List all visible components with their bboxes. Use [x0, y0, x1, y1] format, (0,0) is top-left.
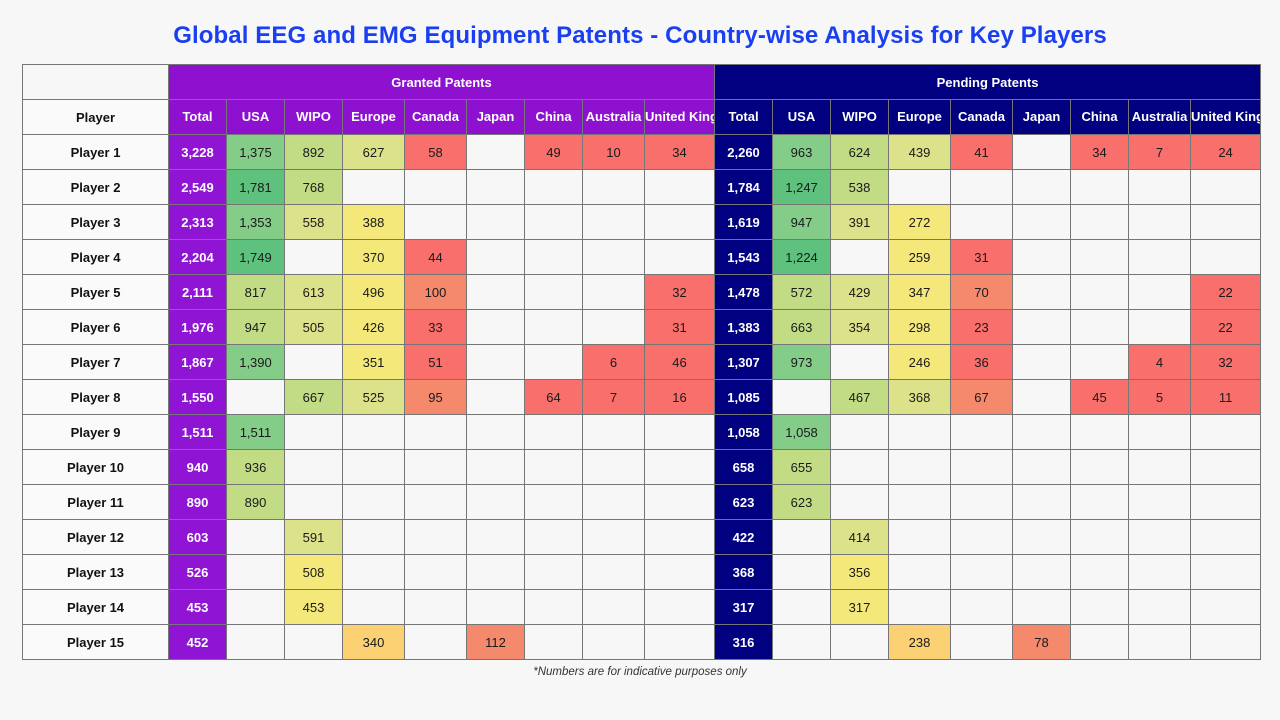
- cell-granted-australia: [583, 170, 645, 205]
- cell-granted-europe: 370: [343, 240, 405, 275]
- cell-granted-japan: [467, 380, 525, 415]
- cell-pending-australia: [1129, 485, 1191, 520]
- cell-granted-china: [525, 450, 583, 485]
- cell-granted-usa: 947: [227, 310, 285, 345]
- cell-granted-united-kingdom: 16: [645, 380, 715, 415]
- cell-granted-china: [525, 345, 583, 380]
- cell-pending-canada: [951, 485, 1013, 520]
- cell-granted-australia: [583, 625, 645, 660]
- cell-granted-canada: 44: [405, 240, 467, 275]
- footnote: *Numbers are for indicative purposes onl…: [0, 660, 1280, 678]
- cell-granted-united-kingdom: [645, 170, 715, 205]
- cell-pending-wipo: [831, 485, 889, 520]
- cell-granted-usa: 1,353: [227, 205, 285, 240]
- cell-granted-australia: [583, 240, 645, 275]
- cell-pending-wipo: 538: [831, 170, 889, 205]
- row-label-player: Player 13: [23, 555, 169, 590]
- cell-pending-canada: 41: [951, 135, 1013, 170]
- cell-granted-united-kingdom: [645, 450, 715, 485]
- cell-granted-total: 1,867: [169, 345, 227, 380]
- cell-granted-china: [525, 590, 583, 625]
- cell-granted-wipo: [285, 345, 343, 380]
- cell-pending-canada: 70: [951, 275, 1013, 310]
- cell-pending-china: [1071, 450, 1129, 485]
- column-header-pending-japan: Japan: [1013, 100, 1071, 135]
- cell-granted-united-kingdom: [645, 415, 715, 450]
- cell-pending-europe: [889, 415, 951, 450]
- table-row: Player 11890890623623: [23, 485, 1261, 520]
- cell-pending-united-kingdom: 24: [1191, 135, 1261, 170]
- column-header-granted-japan: Japan: [467, 100, 525, 135]
- cell-granted-australia: [583, 205, 645, 240]
- cell-pending-usa: 663: [773, 310, 831, 345]
- cell-granted-europe: 340: [343, 625, 405, 660]
- cell-pending-japan: [1013, 520, 1071, 555]
- cell-pending-canada: [951, 625, 1013, 660]
- cell-granted-usa: 1,375: [227, 135, 285, 170]
- table-row: Player 42,2041,749370441,5431,22425931: [23, 240, 1261, 275]
- cell-granted-total: 526: [169, 555, 227, 590]
- cell-pending-canada: [951, 520, 1013, 555]
- cell-pending-canada: 36: [951, 345, 1013, 380]
- cell-pending-wipo: 391: [831, 205, 889, 240]
- column-header-granted-canada: Canada: [405, 100, 467, 135]
- cell-pending-wipo: 429: [831, 275, 889, 310]
- cell-pending-japan: [1013, 310, 1071, 345]
- cell-granted-europe: [343, 485, 405, 520]
- cell-granted-europe: 496: [343, 275, 405, 310]
- cell-pending-united-kingdom: [1191, 415, 1261, 450]
- row-label-player: Player 11: [23, 485, 169, 520]
- table-head: Granted Patents Pending Patents Player T…: [23, 65, 1261, 135]
- cell-pending-total: 1,058: [715, 415, 773, 450]
- row-header-label: Player: [23, 100, 169, 135]
- cell-pending-canada: 23: [951, 310, 1013, 345]
- cell-pending-wipo: 356: [831, 555, 889, 590]
- row-label-player: Player 7: [23, 345, 169, 380]
- cell-granted-europe: 388: [343, 205, 405, 240]
- cell-pending-total: 1,307: [715, 345, 773, 380]
- cell-pending-china: [1071, 415, 1129, 450]
- cell-pending-usa: 655: [773, 450, 831, 485]
- cell-granted-total: 2,204: [169, 240, 227, 275]
- cell-granted-united-kingdom: [645, 205, 715, 240]
- cell-granted-wipo: [285, 450, 343, 485]
- cell-pending-china: [1071, 310, 1129, 345]
- cell-granted-united-kingdom: 32: [645, 275, 715, 310]
- cell-pending-japan: [1013, 415, 1071, 450]
- cell-granted-canada: [405, 450, 467, 485]
- table-row: Player 22,5491,7817681,7841,247538: [23, 170, 1261, 205]
- cell-granted-japan: [467, 135, 525, 170]
- cell-granted-canada: 51: [405, 345, 467, 380]
- cell-pending-china: [1071, 275, 1129, 310]
- cell-pending-total: 2,260: [715, 135, 773, 170]
- cell-granted-united-kingdom: [645, 555, 715, 590]
- table-row: Player 13,2281,375892627584910342,260963…: [23, 135, 1261, 170]
- cell-granted-europe: 627: [343, 135, 405, 170]
- table-row: Player 10940936658655: [23, 450, 1261, 485]
- cell-granted-united-kingdom: [645, 520, 715, 555]
- cell-granted-canada: 95: [405, 380, 467, 415]
- cell-pending-china: [1071, 240, 1129, 275]
- cell-pending-united-kingdom: [1191, 625, 1261, 660]
- cell-pending-china: [1071, 520, 1129, 555]
- cell-granted-usa: 817: [227, 275, 285, 310]
- row-label-player: Player 14: [23, 590, 169, 625]
- cell-granted-canada: 33: [405, 310, 467, 345]
- column-header-row: Player TotalUSAWIPOEuropeCanadaJapanChin…: [23, 100, 1261, 135]
- cell-pending-total: 1,784: [715, 170, 773, 205]
- cell-granted-wipo: 613: [285, 275, 343, 310]
- cell-pending-total: 368: [715, 555, 773, 590]
- cell-granted-europe: [343, 520, 405, 555]
- cell-pending-china: [1071, 590, 1129, 625]
- table-row: Player 14453453317317: [23, 590, 1261, 625]
- cell-pending-usa: 947: [773, 205, 831, 240]
- cell-pending-usa: 1,247: [773, 170, 831, 205]
- cell-pending-canada: [951, 170, 1013, 205]
- cell-pending-wipo: 624: [831, 135, 889, 170]
- cell-granted-europe: [343, 415, 405, 450]
- cell-pending-japan: [1013, 555, 1071, 590]
- cell-granted-usa: [227, 520, 285, 555]
- cell-pending-wipo: 467: [831, 380, 889, 415]
- cell-granted-canada: [405, 555, 467, 590]
- cell-granted-total: 2,549: [169, 170, 227, 205]
- cell-pending-australia: [1129, 590, 1191, 625]
- cell-pending-japan: [1013, 240, 1071, 275]
- cell-pending-australia: [1129, 170, 1191, 205]
- column-header-pending-total: Total: [715, 100, 773, 135]
- cell-pending-japan: [1013, 485, 1071, 520]
- cell-granted-china: 64: [525, 380, 583, 415]
- cell-pending-canada: [951, 450, 1013, 485]
- cell-granted-total: 1,550: [169, 380, 227, 415]
- cell-pending-total: 1,478: [715, 275, 773, 310]
- cell-granted-china: [525, 625, 583, 660]
- cell-pending-canada: [951, 205, 1013, 240]
- cell-granted-wipo: [285, 240, 343, 275]
- group-header-spacer: [23, 65, 169, 100]
- cell-granted-canada: [405, 205, 467, 240]
- cell-pending-wipo: [831, 625, 889, 660]
- cell-pending-usa: 623: [773, 485, 831, 520]
- table-row: Player 91,5111,5111,0581,058: [23, 415, 1261, 450]
- row-label-player: Player 6: [23, 310, 169, 345]
- cell-pending-china: 34: [1071, 135, 1129, 170]
- patents-heatmap-table: Granted Patents Pending Patents Player T…: [22, 64, 1261, 660]
- cell-granted-usa: [227, 380, 285, 415]
- cell-pending-united-kingdom: [1191, 590, 1261, 625]
- row-label-player: Player 12: [23, 520, 169, 555]
- cell-pending-europe: [889, 520, 951, 555]
- cell-pending-china: [1071, 170, 1129, 205]
- column-header-pending-canada: Canada: [951, 100, 1013, 135]
- cell-granted-canada: [405, 170, 467, 205]
- cell-pending-australia: [1129, 310, 1191, 345]
- cell-pending-japan: [1013, 380, 1071, 415]
- cell-granted-japan: [467, 415, 525, 450]
- cell-pending-japan: 78: [1013, 625, 1071, 660]
- cell-pending-united-kingdom: [1191, 205, 1261, 240]
- cell-granted-wipo: [285, 625, 343, 660]
- page-root: Global EEG and EMG Equipment Patents - C…: [0, 0, 1280, 720]
- cell-granted-united-kingdom: [645, 590, 715, 625]
- cell-pending-canada: [951, 415, 1013, 450]
- cell-granted-china: [525, 555, 583, 590]
- column-header-granted-europe: Europe: [343, 100, 405, 135]
- cell-pending-japan: [1013, 275, 1071, 310]
- row-label-player: Player 5: [23, 275, 169, 310]
- cell-granted-japan: [467, 205, 525, 240]
- cell-pending-europe: [889, 485, 951, 520]
- cell-granted-wipo: 892: [285, 135, 343, 170]
- cell-granted-united-kingdom: [645, 485, 715, 520]
- cell-pending-total: 1,085: [715, 380, 773, 415]
- cell-granted-china: [525, 415, 583, 450]
- cell-granted-china: [525, 240, 583, 275]
- column-header-pending-china: China: [1071, 100, 1129, 135]
- row-label-player: Player 3: [23, 205, 169, 240]
- cell-granted-usa: 1,749: [227, 240, 285, 275]
- cell-pending-europe: 259: [889, 240, 951, 275]
- page-title: Global EEG and EMG Equipment Patents - C…: [0, 0, 1280, 64]
- cell-pending-usa: 1,224: [773, 240, 831, 275]
- table-row: Player 13526508368356: [23, 555, 1261, 590]
- cell-pending-australia: [1129, 625, 1191, 660]
- cell-pending-united-kingdom: [1191, 555, 1261, 590]
- cell-pending-total: 1,543: [715, 240, 773, 275]
- cell-pending-wipo: [831, 450, 889, 485]
- cell-pending-europe: 238: [889, 625, 951, 660]
- cell-pending-total: 317: [715, 590, 773, 625]
- cell-granted-total: 3,228: [169, 135, 227, 170]
- cell-pending-canada: 31: [951, 240, 1013, 275]
- cell-granted-europe: [343, 555, 405, 590]
- cell-granted-australia: 6: [583, 345, 645, 380]
- cell-granted-japan: [467, 170, 525, 205]
- cell-granted-total: 453: [169, 590, 227, 625]
- cell-granted-wipo: [285, 485, 343, 520]
- cell-pending-total: 658: [715, 450, 773, 485]
- cell-granted-usa: [227, 590, 285, 625]
- cell-granted-canada: [405, 625, 467, 660]
- column-header-granted-china: China: [525, 100, 583, 135]
- cell-granted-usa: 1,781: [227, 170, 285, 205]
- cell-granted-japan: [467, 275, 525, 310]
- cell-granted-europe: 351: [343, 345, 405, 380]
- cell-granted-china: [525, 275, 583, 310]
- cell-pending-usa: 1,058: [773, 415, 831, 450]
- cell-granted-japan: [467, 240, 525, 275]
- cell-pending-wipo: 414: [831, 520, 889, 555]
- cell-pending-europe: 298: [889, 310, 951, 345]
- table-body: Player 13,2281,375892627584910342,260963…: [23, 135, 1261, 660]
- cell-pending-usa: [773, 520, 831, 555]
- column-header-pending-europe: Europe: [889, 100, 951, 135]
- cell-granted-china: [525, 520, 583, 555]
- cell-pending-japan: [1013, 590, 1071, 625]
- cell-granted-total: 940: [169, 450, 227, 485]
- cell-pending-china: 45: [1071, 380, 1129, 415]
- cell-granted-total: 1,511: [169, 415, 227, 450]
- cell-pending-australia: [1129, 275, 1191, 310]
- cell-pending-europe: [889, 590, 951, 625]
- column-header-pending-usa: USA: [773, 100, 831, 135]
- cell-granted-wipo: 768: [285, 170, 343, 205]
- cell-pending-europe: [889, 170, 951, 205]
- cell-granted-japan: [467, 555, 525, 590]
- table-row: Player 32,3131,3535583881,619947391272: [23, 205, 1261, 240]
- column-header-granted-australia: Australia: [583, 100, 645, 135]
- cell-granted-united-kingdom: [645, 625, 715, 660]
- cell-granted-wipo: [285, 415, 343, 450]
- cell-pending-canada: [951, 590, 1013, 625]
- cell-granted-wipo: 591: [285, 520, 343, 555]
- cell-granted-australia: [583, 555, 645, 590]
- cell-granted-japan: [467, 520, 525, 555]
- cell-pending-europe: 246: [889, 345, 951, 380]
- cell-pending-china: [1071, 345, 1129, 380]
- cell-granted-wipo: 505: [285, 310, 343, 345]
- table-row: Player 61,97694750542633311,383663354298…: [23, 310, 1261, 345]
- cell-pending-japan: [1013, 135, 1071, 170]
- cell-granted-japan: 112: [467, 625, 525, 660]
- cell-pending-australia: [1129, 415, 1191, 450]
- cell-granted-usa: 890: [227, 485, 285, 520]
- cell-granted-europe: [343, 450, 405, 485]
- cell-pending-australia: [1129, 450, 1191, 485]
- cell-pending-canada: 67: [951, 380, 1013, 415]
- row-label-player: Player 15: [23, 625, 169, 660]
- cell-granted-china: 49: [525, 135, 583, 170]
- cell-granted-australia: 10: [583, 135, 645, 170]
- cell-pending-total: 623: [715, 485, 773, 520]
- cell-pending-united-kingdom: [1191, 520, 1261, 555]
- cell-pending-wipo: [831, 240, 889, 275]
- cell-pending-usa: [773, 625, 831, 660]
- cell-pending-china: [1071, 205, 1129, 240]
- cell-pending-japan: [1013, 345, 1071, 380]
- cell-granted-canada: [405, 590, 467, 625]
- cell-pending-united-kingdom: [1191, 485, 1261, 520]
- cell-pending-wipo: [831, 345, 889, 380]
- cell-granted-australia: [583, 520, 645, 555]
- cell-pending-australia: 5: [1129, 380, 1191, 415]
- cell-pending-total: 316: [715, 625, 773, 660]
- table-row: Player 12603591422414: [23, 520, 1261, 555]
- cell-pending-usa: [773, 590, 831, 625]
- cell-pending-total: 1,383: [715, 310, 773, 345]
- cell-pending-united-kingdom: 32: [1191, 345, 1261, 380]
- row-label-player: Player 2: [23, 170, 169, 205]
- cell-pending-japan: [1013, 205, 1071, 240]
- table-row: Player 1545234011231623878: [23, 625, 1261, 660]
- cell-pending-china: [1071, 485, 1129, 520]
- cell-pending-china: [1071, 555, 1129, 590]
- cell-granted-australia: [583, 485, 645, 520]
- cell-granted-usa: [227, 625, 285, 660]
- cell-granted-china: [525, 310, 583, 345]
- cell-granted-japan: [467, 590, 525, 625]
- cell-granted-total: 603: [169, 520, 227, 555]
- cell-granted-wipo: 558: [285, 205, 343, 240]
- cell-granted-canada: [405, 485, 467, 520]
- cell-pending-united-kingdom: [1191, 170, 1261, 205]
- cell-granted-europe: [343, 590, 405, 625]
- cell-pending-total: 422: [715, 520, 773, 555]
- column-header-granted-united-kingdom: United Kingdom: [645, 100, 715, 135]
- cell-pending-europe: [889, 555, 951, 590]
- cell-granted-europe: [343, 170, 405, 205]
- cell-pending-usa: 572: [773, 275, 831, 310]
- cell-pending-australia: 4: [1129, 345, 1191, 380]
- cell-granted-canada: 100: [405, 275, 467, 310]
- cell-pending-australia: [1129, 555, 1191, 590]
- group-header-row: Granted Patents Pending Patents: [23, 65, 1261, 100]
- cell-pending-wipo: 354: [831, 310, 889, 345]
- cell-pending-australia: [1129, 520, 1191, 555]
- cell-granted-australia: [583, 415, 645, 450]
- cell-granted-china: [525, 205, 583, 240]
- table-row: Player 52,111817613496100321,47857242934…: [23, 275, 1261, 310]
- cell-granted-europe: 426: [343, 310, 405, 345]
- cell-granted-china: [525, 170, 583, 205]
- cell-granted-canada: [405, 415, 467, 450]
- cell-granted-australia: [583, 590, 645, 625]
- row-label-player: Player 4: [23, 240, 169, 275]
- cell-granted-united-kingdom: 46: [645, 345, 715, 380]
- row-label-player: Player 9: [23, 415, 169, 450]
- cell-pending-usa: 973: [773, 345, 831, 380]
- row-label-player: Player 1: [23, 135, 169, 170]
- cell-pending-europe: [889, 450, 951, 485]
- group-header-granted: Granted Patents: [169, 65, 715, 100]
- column-header-pending-australia: Australia: [1129, 100, 1191, 135]
- row-label-player: Player 8: [23, 380, 169, 415]
- cell-granted-united-kingdom: [645, 240, 715, 275]
- cell-pending-europe: 272: [889, 205, 951, 240]
- cell-pending-united-kingdom: [1191, 450, 1261, 485]
- cell-granted-canada: [405, 520, 467, 555]
- column-header-granted-wipo: WIPO: [285, 100, 343, 135]
- cell-pending-europe: 347: [889, 275, 951, 310]
- cell-granted-total: 2,313: [169, 205, 227, 240]
- cell-pending-japan: [1013, 450, 1071, 485]
- cell-pending-total: 1,619: [715, 205, 773, 240]
- cell-pending-united-kingdom: 22: [1191, 275, 1261, 310]
- cell-granted-australia: [583, 310, 645, 345]
- cell-granted-europe: 525: [343, 380, 405, 415]
- cell-granted-australia: [583, 275, 645, 310]
- cell-pending-usa: [773, 380, 831, 415]
- column-header-granted-usa: USA: [227, 100, 285, 135]
- cell-granted-usa: 936: [227, 450, 285, 485]
- cell-pending-europe: 439: [889, 135, 951, 170]
- cell-granted-united-kingdom: 34: [645, 135, 715, 170]
- cell-granted-usa: 1,511: [227, 415, 285, 450]
- table-row: Player 71,8671,390351516461,307973246364…: [23, 345, 1261, 380]
- cell-granted-japan: [467, 450, 525, 485]
- cell-granted-total: 2,111: [169, 275, 227, 310]
- cell-pending-canada: [951, 555, 1013, 590]
- cell-pending-usa: 963: [773, 135, 831, 170]
- cell-granted-china: [525, 485, 583, 520]
- column-header-pending-wipo: WIPO: [831, 100, 889, 135]
- cell-granted-wipo: 667: [285, 380, 343, 415]
- cell-granted-total: 452: [169, 625, 227, 660]
